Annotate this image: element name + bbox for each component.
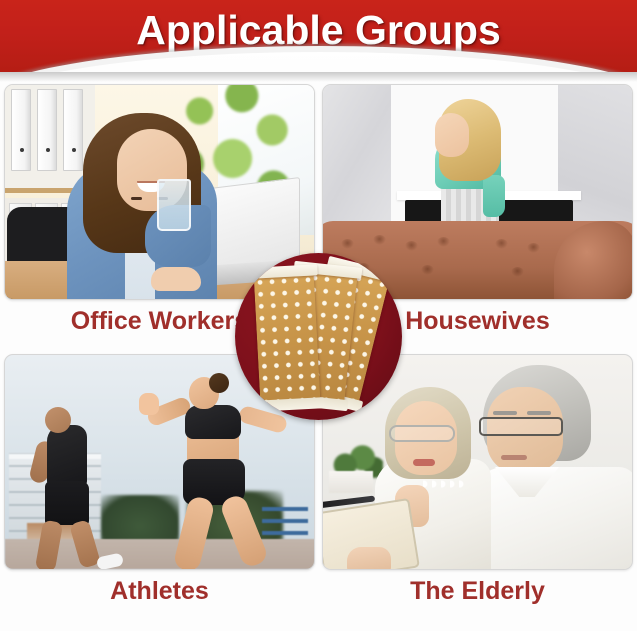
header-banner: Applicable Groups xyxy=(0,0,637,72)
center-product-badge xyxy=(235,253,402,420)
hand-shape xyxy=(347,547,391,570)
infographic-canvas: Applicable Groups xyxy=(0,0,637,631)
sports-bra-shape xyxy=(185,405,241,439)
plant-pot-shape xyxy=(329,471,373,493)
mouth-shape xyxy=(501,455,527,460)
hand-shape xyxy=(151,267,201,291)
panel-caption-athletes: Athletes xyxy=(4,573,315,609)
eye-shape xyxy=(131,197,142,200)
sofa-tuft xyxy=(437,237,450,247)
eyebrow-shape xyxy=(493,411,517,415)
teal-top-tail-shape xyxy=(483,175,505,217)
sofa-tuft xyxy=(421,265,434,275)
sofa-tuft xyxy=(405,241,418,251)
binder-icon xyxy=(37,89,57,171)
sofa-tuft xyxy=(511,267,524,277)
hair-bun-shape xyxy=(209,373,229,393)
face-shape xyxy=(435,113,469,157)
eyebrow-shape xyxy=(527,411,551,415)
pearl-necklace-shape xyxy=(423,477,467,491)
elderly-man-shirt xyxy=(471,467,633,570)
sofa-tuft xyxy=(373,235,386,245)
banner-drop-shadow xyxy=(0,72,637,82)
lips-shape xyxy=(413,459,435,466)
binder-icon xyxy=(63,89,83,171)
sofa-tuft xyxy=(341,239,354,249)
sofa-tuft xyxy=(527,243,540,253)
eyeglasses-icon xyxy=(479,417,563,436)
runner-male-head xyxy=(45,407,71,433)
runner-male-torso xyxy=(47,425,87,487)
runner-male-shorts xyxy=(45,481,89,525)
runner-female-hand xyxy=(139,393,159,415)
eyeglasses-icon xyxy=(389,425,455,442)
pain-relief-patch xyxy=(254,274,321,403)
binder-icon xyxy=(11,89,31,171)
panel-caption-the-elderly: The Elderly xyxy=(322,573,633,609)
sofa-tuft xyxy=(495,239,508,249)
water-glass-icon xyxy=(157,179,191,231)
